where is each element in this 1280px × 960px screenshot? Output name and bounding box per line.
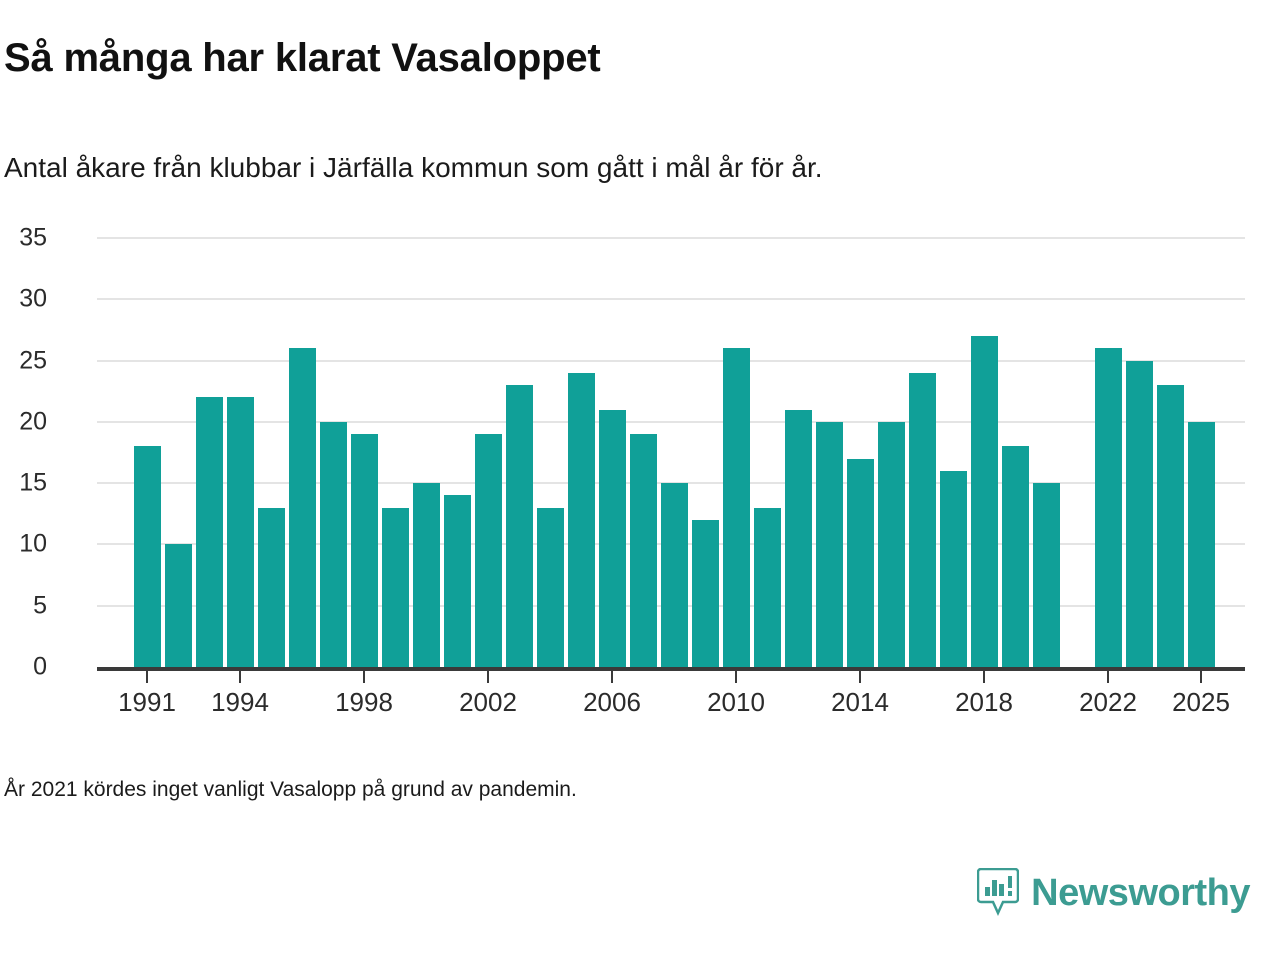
bar-2017[interactable] [940, 471, 967, 667]
y-axis-label-35: 35 [0, 224, 47, 253]
y-axis-label-10: 10 [0, 530, 47, 559]
bar-1996[interactable] [289, 348, 316, 667]
footnote: År 2021 kördes inget vanligt Vasalopp på… [4, 778, 577, 802]
bar-2011[interactable] [754, 508, 781, 667]
bar-1995[interactable] [258, 508, 285, 667]
x-axis-label-2010: 2010 [707, 687, 765, 718]
page-subtitle: Antal åkare från klubbar i Järfälla komm… [4, 152, 823, 184]
bar-2019[interactable] [1002, 446, 1029, 667]
bar-2013[interactable] [816, 422, 843, 667]
bar-series [97, 238, 1245, 667]
bar-2000[interactable] [413, 483, 440, 667]
x-axis-tick-1998 [363, 669, 365, 683]
x-axis-tick-2006 [611, 669, 613, 683]
bar-2009[interactable] [692, 520, 719, 667]
bar-2004[interactable] [537, 508, 564, 667]
bar-2025[interactable] [1188, 422, 1215, 667]
x-axis-label-2014: 2014 [831, 687, 889, 718]
bar-2014[interactable] [847, 459, 874, 667]
x-axis-label-1991: 1991 [118, 687, 176, 718]
bar-2001[interactable] [444, 495, 471, 667]
bar-chart: 05101520253035 1991199419982002200620102… [0, 215, 1280, 725]
y-axis-label-20: 20 [0, 407, 47, 436]
y-axis-label-0: 0 [0, 653, 47, 682]
newsworthy-logo[interactable]: Newsworthy [977, 868, 1250, 918]
x-axis-label-1998: 1998 [335, 687, 393, 718]
bar-1999[interactable] [382, 508, 409, 667]
x-axis-label-2018: 2018 [955, 687, 1013, 718]
bar-1998[interactable] [351, 434, 378, 667]
y-axis-label-5: 5 [0, 591, 47, 620]
bar-1997[interactable] [320, 422, 347, 667]
bar-2003[interactable] [506, 385, 533, 667]
bar-2016[interactable] [909, 373, 936, 667]
bar-1992[interactable] [165, 544, 192, 667]
x-axis-tick-2025 [1200, 669, 1202, 683]
y-axis-label-30: 30 [0, 285, 47, 314]
x-axis-label-2022: 2022 [1079, 687, 1137, 718]
bar-chart-speech-bubble-icon [977, 868, 1019, 918]
x-axis-label-2006: 2006 [583, 687, 641, 718]
bar-2005[interactable] [568, 373, 595, 667]
bar-2010[interactable] [723, 348, 750, 667]
bar-1994[interactable] [227, 397, 254, 667]
x-axis-tick-2022 [1107, 669, 1109, 683]
bar-2008[interactable] [661, 483, 688, 667]
x-axis: 1991199419982002200620102014201820222025 [97, 667, 1245, 727]
bar-2018[interactable] [971, 336, 998, 667]
x-axis-tick-2010 [735, 669, 737, 683]
x-axis-tick-2018 [983, 669, 985, 683]
bar-2015[interactable] [878, 422, 905, 667]
bar-2024[interactable] [1157, 385, 1184, 667]
x-axis-tick-2014 [859, 669, 861, 683]
x-axis-label-2002: 2002 [459, 687, 517, 718]
y-axis-label-15: 15 [0, 469, 47, 498]
bar-2006[interactable] [599, 410, 626, 667]
bar-2007[interactable] [630, 434, 657, 667]
x-axis-label-1994: 1994 [211, 687, 269, 718]
bar-2012[interactable] [785, 410, 812, 667]
plot-area: 05101520253035 [97, 238, 1245, 667]
bar-1991[interactable] [134, 446, 161, 667]
bar-1993[interactable] [196, 397, 223, 667]
x-axis-tick-1994 [239, 669, 241, 683]
bar-2022[interactable] [1095, 348, 1122, 667]
bar-2023[interactable] [1126, 361, 1153, 667]
bar-2020[interactable] [1033, 483, 1060, 667]
x-axis-tick-1991 [146, 669, 148, 683]
logo-wordmark: Newsworthy [1031, 874, 1250, 912]
x-axis-label-2025: 2025 [1172, 687, 1230, 718]
x-axis-tick-2002 [487, 669, 489, 683]
bar-2002[interactable] [475, 434, 502, 667]
y-axis-label-25: 25 [0, 346, 47, 375]
chart-page: Så många har klarat Vasaloppet Antal åka… [0, 0, 1280, 960]
page-title: Så många har klarat Vasaloppet [4, 36, 600, 81]
